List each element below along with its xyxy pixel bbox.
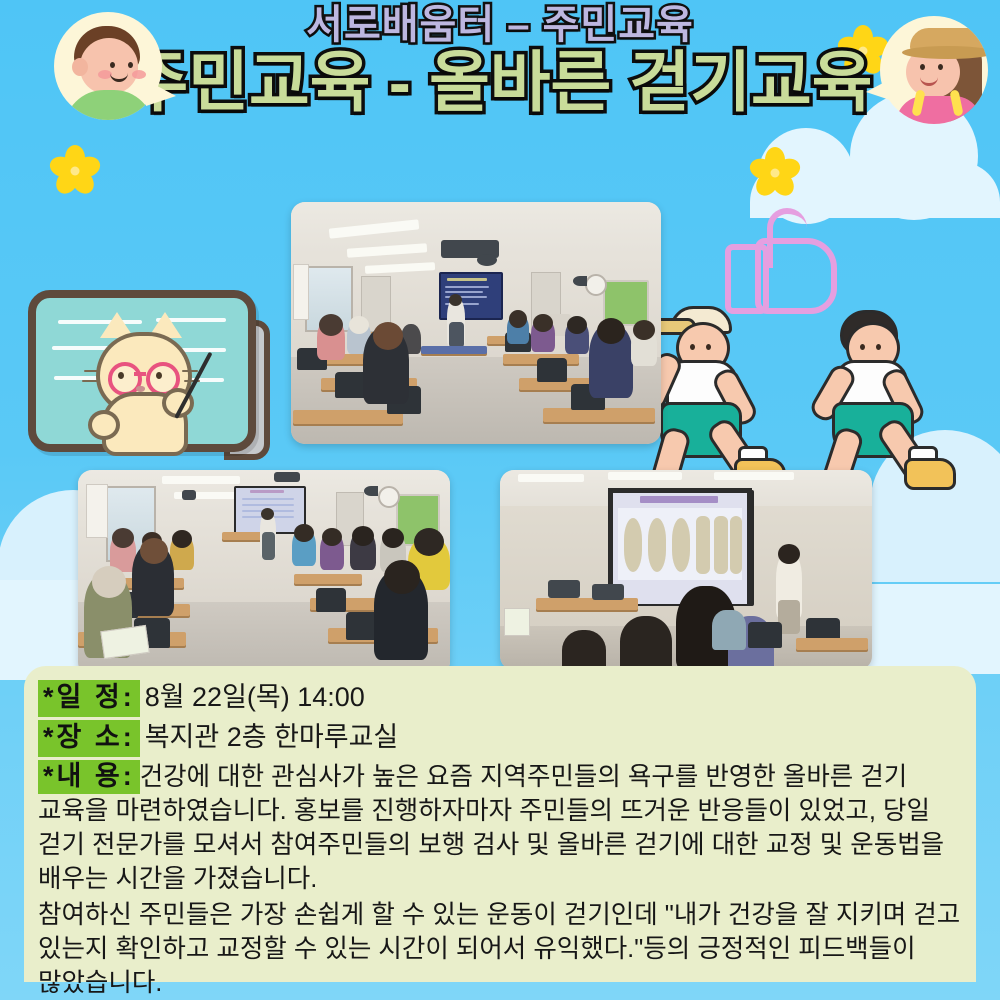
content-label: *내 용:: [38, 760, 140, 794]
walking-person-left: [646, 306, 786, 448]
photo-knee-joint-slide: [500, 470, 872, 670]
flower-right-mid: [752, 150, 798, 196]
thumbs-up-icon: [725, 208, 829, 314]
woman-avatar: [880, 16, 988, 124]
schedule-value: 8월 22일(목) 14:00: [145, 681, 365, 714]
place-value: 복지관 2층 한마루교실: [145, 721, 399, 754]
info-panel: *일 정: 8월 22일(목) 14:00 *장 소: 복지관 2층 한마루교실…: [24, 666, 976, 982]
place-row: *장 소: 복지관 2층 한마루교실: [38, 720, 962, 757]
content-block: *내 용:건강에 대한 관심사가 높은 요즘 지역주민들의 욕구를 반영한 올바…: [38, 760, 962, 1000]
content-paragraph-1: *내 용:건강에 대한 관심사가 높은 요즘 지역주민들의 욕구를 반영한 올바…: [38, 760, 962, 897]
schedule-row: *일 정: 8월 22일(목) 14:00: [38, 680, 962, 717]
cat-teacher-whiteboard: [28, 290, 256, 452]
boy-avatar-bubble: [54, 12, 162, 120]
photo-classroom-lecture-wide: [291, 202, 661, 444]
poster-canvas: 서로배움터 – 주민교육 주민교육 - 올바른 걷기교육: [0, 0, 1000, 1000]
flower-left-top: [52, 148, 98, 194]
walking-person-right: [820, 306, 960, 448]
cat-icon: [82, 326, 200, 444]
content-lead: 건강에 대한 관심사가 높은 요즘 지역주민들의 욕구를 반영한 올바른 걷기 …: [38, 763, 944, 893]
content-paragraph-2: 참여하신 주민들은 가장 손쉽게 할 수 있는 운동이 걷기인데 "내가 건강을…: [38, 898, 962, 1000]
woman-avatar-bubble: [880, 16, 988, 124]
photo-classroom-participants: [78, 470, 450, 676]
place-label: *장 소:: [38, 720, 140, 757]
schedule-label: *일 정:: [38, 680, 140, 717]
